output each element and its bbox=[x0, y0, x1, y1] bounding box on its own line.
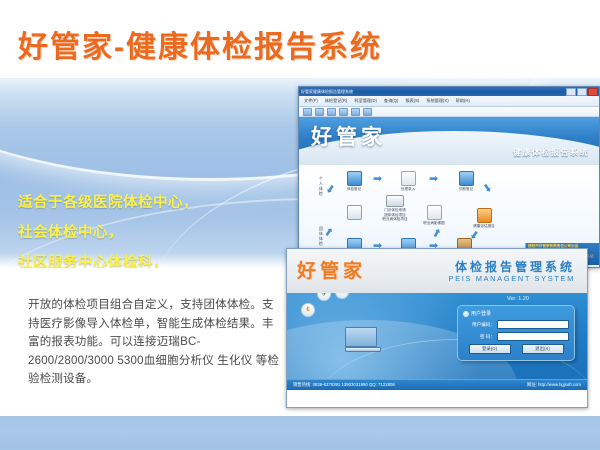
menu-item-file[interactable]: 文件(F) bbox=[304, 96, 318, 106]
website-url: 网址: http://www.hgjsoft.com bbox=[527, 382, 581, 388]
password-label: 密 码： bbox=[463, 334, 495, 340]
workflow-stack-label: 职业病体检项目 bbox=[373, 217, 417, 222]
app-banner-subtitle: 健康体检报告系统 bbox=[513, 147, 589, 158]
laptop-base bbox=[345, 347, 381, 352]
app-brand-name: 好管家 bbox=[311, 121, 386, 151]
menu-item-help[interactable]: 帮助(H) bbox=[456, 96, 470, 106]
bullet-line: 社会体检中心， bbox=[18, 218, 318, 248]
menu-item-registration[interactable]: 体检登记(R) bbox=[325, 96, 348, 106]
login-brand-name: 好管家 bbox=[297, 256, 366, 283]
arrow-right-icon: ➡ bbox=[373, 174, 382, 185]
close-icon[interactable] bbox=[588, 88, 598, 96]
workflow-node-label: 处理录入 bbox=[391, 187, 425, 192]
menu-item-department[interactable]: 科室管理(D) bbox=[354, 96, 377, 106]
orange-shield-icon bbox=[477, 208, 492, 223]
login-screenshot: 好管家 体检报告管理系统 PEIS MANAGENT SYSTEM Ver: 1… bbox=[286, 248, 588, 408]
login-button[interactable]: 登录(O) bbox=[469, 344, 511, 354]
login-panel-title: 用户登录 bbox=[463, 310, 569, 317]
bullet-line: 适合于各级医院体检中心， bbox=[18, 188, 318, 218]
book-stack-icon bbox=[386, 195, 404, 207]
arrow-right-icon: ➡ bbox=[429, 174, 438, 185]
workflow-node[interactable]: 健康评估报告 bbox=[467, 208, 501, 229]
laptop-screen bbox=[345, 327, 377, 347]
user-icon bbox=[463, 311, 469, 317]
menu-item-system[interactable]: 系统管理(X) bbox=[426, 96, 448, 106]
arrow-up-right-icon: ➡ bbox=[431, 227, 445, 240]
paper-pen-icon bbox=[401, 171, 416, 186]
username-label: 用户编码： bbox=[463, 322, 495, 328]
toolbar-icon-open[interactable] bbox=[315, 108, 324, 116]
workflow-node[interactable]: 诊断登记 bbox=[449, 171, 483, 192]
bar-chart-icon bbox=[347, 205, 362, 220]
globe-icon bbox=[347, 171, 362, 186]
feature-bullet-list: 适合于各级医院体检中心， 社会体检中心， 社区服务中心体检科， 移动体检车等机构… bbox=[18, 188, 318, 268]
euro-coin-icon: € bbox=[301, 303, 315, 317]
password-input[interactable] bbox=[497, 332, 569, 341]
sales-hotline: 销售热线: 0838-6275391 13903031990 QQ: 71228… bbox=[293, 382, 395, 388]
window-title: 好管家健康体检报告管理系统 bbox=[301, 87, 353, 96]
main-app-screenshot: 好管家健康体检报告管理系统 文件(F) 体检登记(R) 科室管理(D) 查询(Q… bbox=[298, 86, 600, 268]
footer-band bbox=[0, 416, 600, 450]
minimize-icon[interactable] bbox=[566, 88, 576, 96]
workflow-node-label: 职业病影像图 bbox=[417, 221, 451, 226]
toolbar-icon-search[interactable] bbox=[351, 108, 360, 116]
username-row: 用户编码： bbox=[463, 320, 569, 329]
window-titlebar: 好管家健康体检报告管理系统 bbox=[299, 87, 599, 96]
workflow-stack: 门诊体检申请 团体体检项目 职业病体检项目 bbox=[373, 195, 417, 222]
login-panel-title-text: 用户登录 bbox=[471, 310, 491, 317]
menu-item-reports[interactable]: 报表(S) bbox=[405, 96, 419, 106]
book-blue-icon bbox=[459, 171, 474, 186]
leaf-teal-icon: ❧ bbox=[335, 293, 349, 299]
menu-item-query[interactable]: 查询(Q) bbox=[384, 96, 398, 106]
login-system-name-en: PEIS MANAGENT SYSTEM bbox=[449, 274, 575, 283]
slide-canvas: 好管家-健康体检报告系统 适合于各级医院体检中心， 社会体检中心， 社区服务中心… bbox=[0, 0, 600, 450]
login-form-panel: 用户登录 用户编码： 密 码： 登录(O) 退出(X) bbox=[457, 305, 575, 361]
login-header: 好管家 体检报告管理系统 PEIS MANAGENT SYSTEM bbox=[287, 249, 587, 293]
toolbar-icon-exit[interactable] bbox=[363, 108, 372, 116]
version-label: Ver: 1.20 bbox=[507, 296, 529, 302]
description-paragraph: 开放的体检项目组合自定义，支持团体体检。支持医疗影像导入体检单，智能生成体检结果… bbox=[28, 296, 280, 389]
login-button-row: 登录(O) 退出(X) bbox=[463, 344, 569, 354]
workflow-node[interactable]: 处理录入 bbox=[391, 171, 425, 192]
login-status-bar: 销售热线: 0838-6275391 13903031990 QQ: 71228… bbox=[287, 379, 587, 390]
username-input[interactable] bbox=[497, 320, 569, 329]
workflow-side-label: 个人体检 bbox=[319, 177, 325, 197]
bullet-line: 社区服务中心体检科， bbox=[18, 248, 318, 268]
leaf-green-icon: ✈ bbox=[317, 293, 331, 301]
window-controls bbox=[566, 88, 598, 96]
document-icon bbox=[427, 205, 442, 220]
login-body: Ver: 1.20 ✈ ❧ € 用户登录 用户编码： 密 码： bbox=[287, 293, 587, 390]
toolbar-icon-print[interactable] bbox=[339, 108, 348, 116]
workflow-node[interactable]: 体检登记 bbox=[337, 171, 371, 192]
workflow-node-label: 诊断登记 bbox=[449, 187, 483, 192]
page-title: 好管家-健康体检报告系统 bbox=[18, 22, 382, 66]
toolbar-icon-save[interactable] bbox=[327, 108, 336, 116]
toolbar-icon-new[interactable] bbox=[303, 108, 312, 116]
password-row: 密 码： bbox=[463, 332, 569, 341]
workflow-node-label: 体检登记 bbox=[337, 187, 371, 192]
workflow-node[interactable]: 职业病影像图 bbox=[417, 205, 451, 226]
workflow-side-label: 团体体检 bbox=[319, 227, 325, 247]
laptop-illustration bbox=[345, 327, 379, 351]
workflow-node[interactable] bbox=[337, 205, 371, 221]
maximize-icon[interactable] bbox=[577, 88, 587, 96]
exit-button[interactable]: 退出(X) bbox=[522, 344, 564, 354]
login-system-name-cn: 体检报告管理系统 bbox=[455, 258, 575, 275]
toolbar bbox=[299, 107, 599, 117]
title-band: 好管家-健康体检报告系统 bbox=[0, 0, 600, 78]
menu-bar: 文件(F) 体检登记(R) 科室管理(D) 查询(Q) 报表(S) 系统管理(X… bbox=[299, 96, 599, 107]
app-banner: 好管家 健康体检报告系统 bbox=[299, 117, 599, 165]
